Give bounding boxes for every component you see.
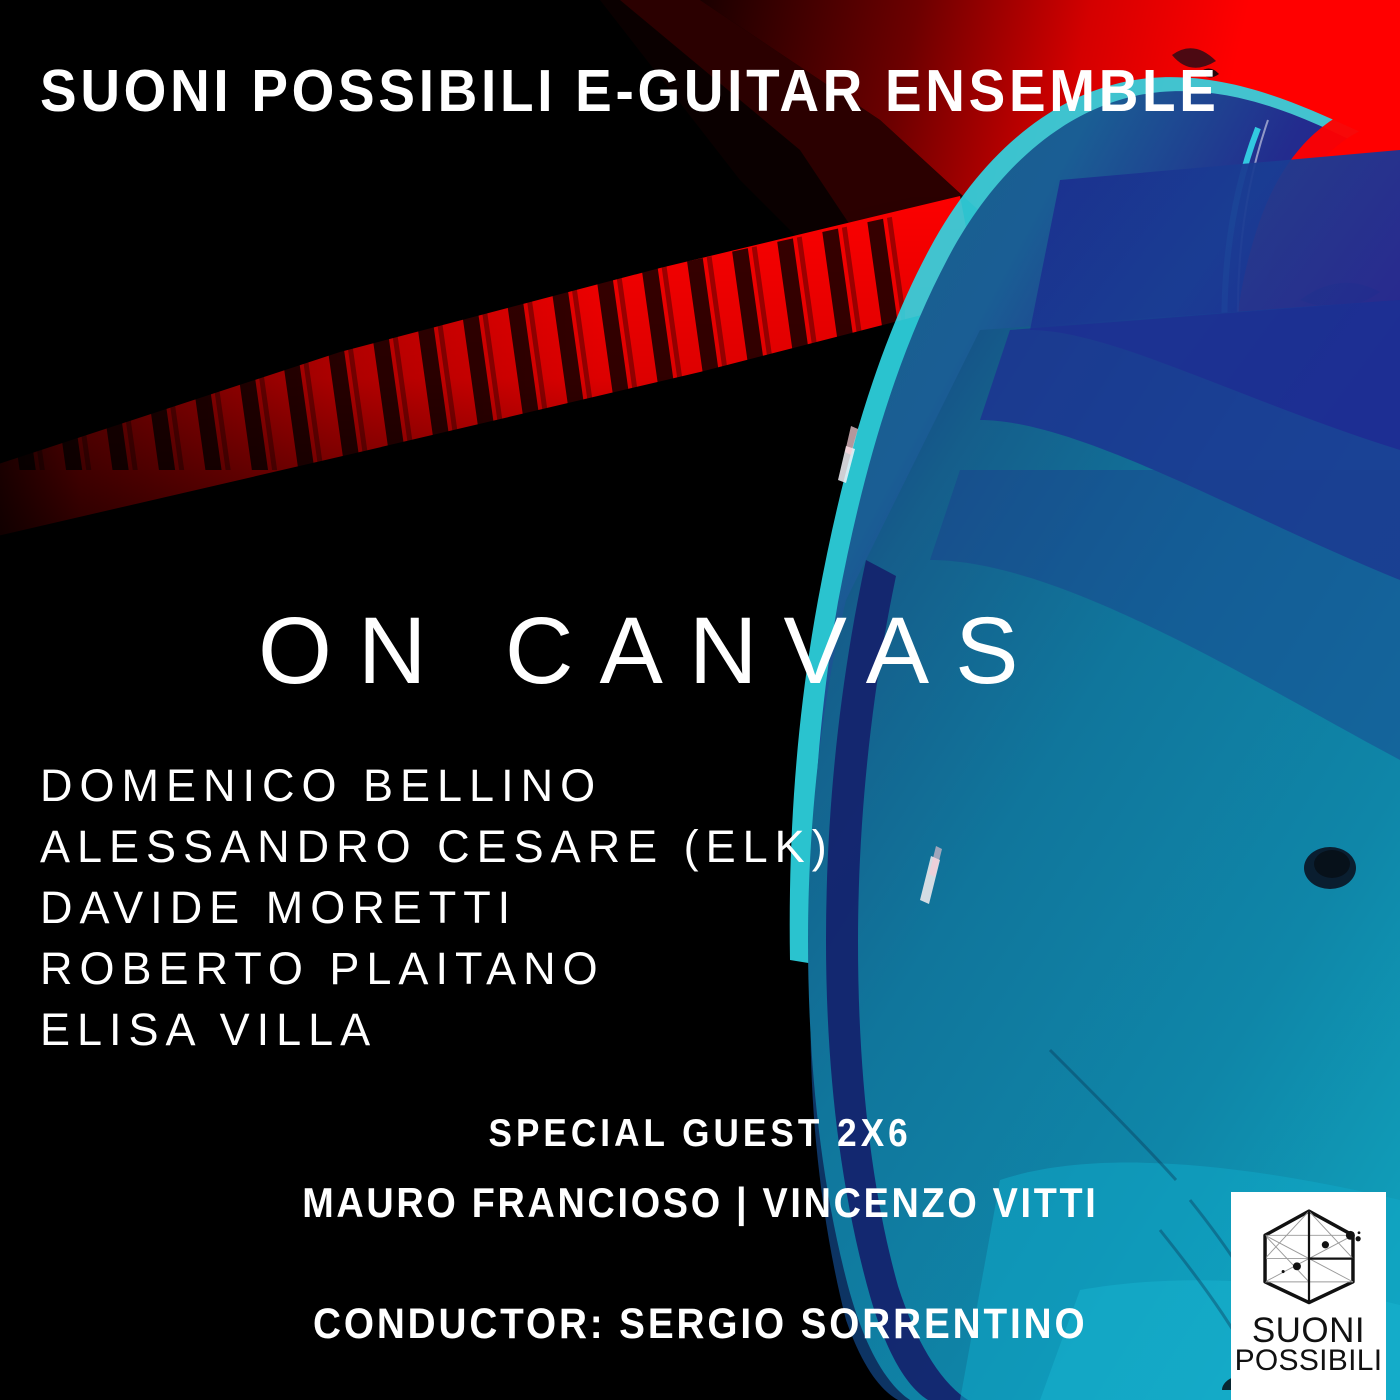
page-title: ON CANVAS	[258, 602, 1045, 702]
list-item: ELISA VILLA	[40, 999, 834, 1060]
hexagon-cube-icon	[1257, 1206, 1361, 1306]
poster-root: SUONI POSSIBILI E-GUITAR ENSEMBLE ON CAN…	[0, 0, 1400, 1400]
special-guest-block: SPECIAL GUEST 2X6 MAURO FRANCIOSO | VINC…	[0, 1108, 1400, 1231]
special-guest-label: SPECIAL GUEST 2X6	[488, 1108, 911, 1161]
special-guest-names: MAURO FRANCIOSO | VINCENZO VITTI	[302, 1175, 1098, 1232]
conductor-text: CONDUCTOR: SERGIO SORRENTINO	[313, 1300, 1087, 1349]
logo-line-1: SUONI	[1235, 1315, 1383, 1347]
list-item: ALESSANDRO CESARE (ELK)	[40, 816, 834, 877]
suoni-possibili-logo: SUONI POSSIBILI	[1231, 1192, 1386, 1400]
list-item: DAVIDE MORETTI	[40, 877, 834, 938]
performer-list: DOMENICO BELLINO ALESSANDRO CESARE (ELK)…	[40, 755, 834, 1060]
list-item: ROBERTO PLAITANO	[40, 938, 834, 999]
poster-header: SUONI POSSIBILI E-GUITAR ENSEMBLE	[40, 62, 1220, 121]
logo-wordmark: SUONI POSSIBILI	[1235, 1315, 1383, 1375]
list-item: DOMENICO BELLINO	[40, 755, 834, 816]
poster-content: SUONI POSSIBILI E-GUITAR ENSEMBLE ON CAN…	[0, 0, 1400, 1400]
logo-line-2: POSSIBILI	[1235, 1347, 1383, 1375]
conductor-line: CONDUCTOR: SERGIO SORRENTINO	[0, 1300, 1400, 1349]
